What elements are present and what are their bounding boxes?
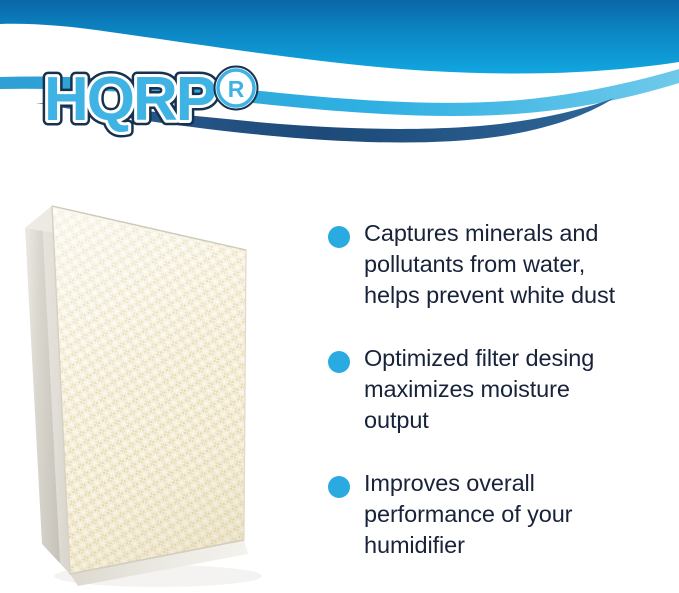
- logo-wordmark: HQRP HQRP HQRP: [44, 65, 216, 134]
- logo-letters-fill: HQRP: [44, 65, 216, 134]
- feature-item-optimized-design: Optimized filter desing maximizes moistu…: [328, 343, 674, 436]
- feature-text: Improves overall performance of your hum…: [364, 468, 674, 561]
- feature-text: Captures minerals and pollutants from wa…: [364, 218, 674, 311]
- feature-item-captures-minerals: Captures minerals and pollutants from wa…: [328, 218, 674, 311]
- hqrp-logo-graphic: HQRP HQRP HQRP R: [40, 62, 265, 138]
- svg-text:R: R: [228, 76, 245, 102]
- bullet-dot-icon: [328, 476, 350, 498]
- feature-list: Captures minerals and pollutants from wa…: [328, 218, 674, 561]
- bullet-dot-icon: [328, 351, 350, 373]
- feature-text: Optimized filter desing maximizes moistu…: [364, 343, 674, 436]
- brand-logo: HQRP HQRP HQRP R: [40, 62, 265, 138]
- feature-item-improves-performance: Improves overall performance of your hum…: [328, 468, 674, 561]
- bullet-dot-icon: [328, 226, 350, 248]
- product-image: [8, 188, 308, 593]
- wick-filter-illustration: [8, 188, 308, 593]
- product-feature-card: HQRP HQRP HQRP R: [0, 0, 679, 593]
- registered-trademark-icon: R: [218, 70, 254, 106]
